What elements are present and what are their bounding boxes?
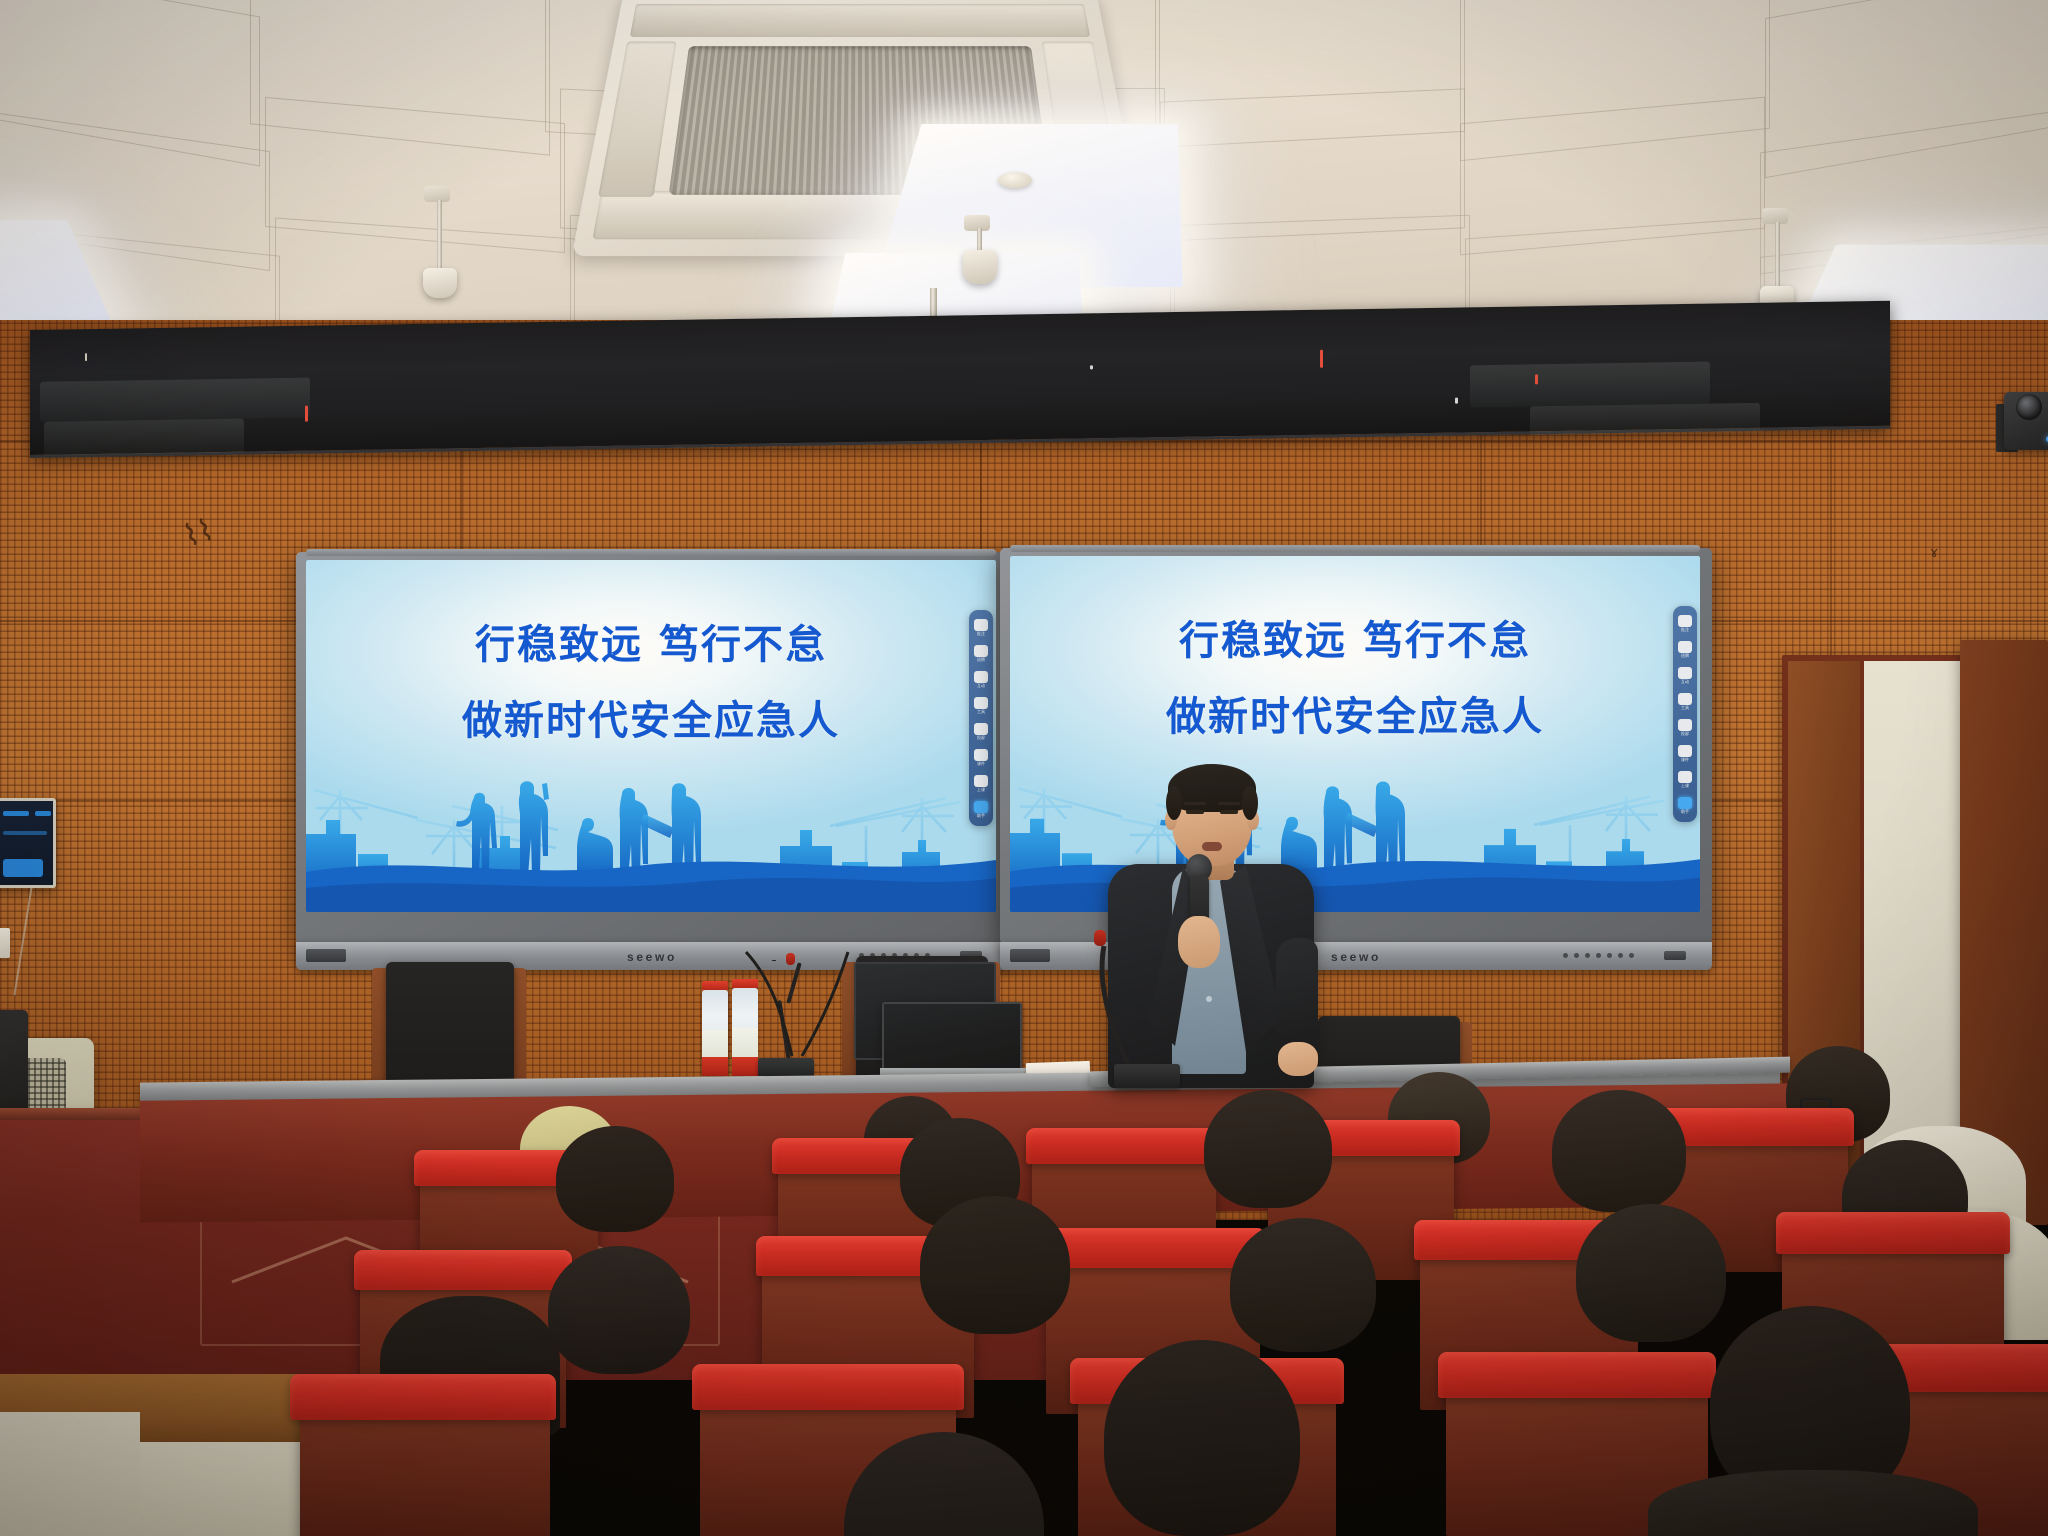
screen-icon — [1678, 719, 1692, 731]
shield-icon — [1678, 641, 1692, 653]
panel-io-ports[interactable] — [1010, 949, 1050, 962]
water-bottle — [702, 990, 728, 1076]
panel-tool-label: 课件 — [1681, 758, 1689, 762]
panel-led-indicators — [1563, 953, 1634, 958]
keyboard-icon — [974, 775, 988, 787]
slide-subtitle: 做新时代安全应急人 — [1010, 684, 1700, 742]
panel-tool-assist-icon[interactable]: 助手 — [1674, 792, 1696, 818]
panel-tool-window-icon[interactable]: 互动 — [1674, 662, 1696, 688]
panel-tool-label: 互动 — [977, 684, 985, 688]
left-slide-screen: 行稳致远 笃行不怠 做新时代安全应急人 — [306, 560, 996, 912]
panel-tool-assist-icon[interactable]: 助手 — [970, 796, 992, 822]
screen-icon — [974, 723, 988, 735]
auditorium-seat-cushion[interactable] — [290, 1374, 556, 1420]
pen-icon — [1678, 615, 1692, 627]
panel-tool-label: 投屏 — [977, 736, 985, 740]
wall-scuff-mark: ɤ — [1930, 545, 1938, 561]
wall-socket[interactable] — [0, 928, 10, 958]
panel-tool-apps-icon[interactable]: 工具 — [970, 692, 992, 718]
panel-io-ports[interactable] — [306, 949, 346, 962]
note-icon — [974, 749, 988, 761]
panel-tool-label: 批注 — [1681, 628, 1689, 632]
assist-icon — [1678, 797, 1692, 809]
audience-head — [1552, 1090, 1686, 1212]
panel-tool-label: 课件 — [977, 762, 985, 766]
ceiling — [0, 0, 2048, 340]
audience-head — [1230, 1218, 1376, 1352]
audience-head — [844, 1432, 1044, 1536]
audience-head — [1104, 1340, 1300, 1536]
slide-title: 行稳致远 笃行不怠 — [1010, 608, 1700, 666]
panel-tool-screen-icon[interactable]: 投屏 — [970, 718, 992, 744]
construction-silhouette-graphic — [306, 762, 996, 912]
panel-tool-pen-icon[interactable]: 批注 — [1674, 610, 1696, 636]
audience-head — [1576, 1204, 1726, 1342]
panel-tool-shield-icon[interactable]: 班牌 — [970, 640, 992, 666]
assist-icon — [974, 801, 988, 813]
panel-tool-shield-icon[interactable]: 班牌 — [1674, 636, 1696, 662]
auditorium-seat-cushion[interactable] — [354, 1250, 572, 1290]
presenter-hand — [1178, 916, 1220, 968]
panel-tool-pen-icon[interactable]: 批注 — [970, 614, 992, 640]
wall-mounted-status-monitor[interactable] — [0, 798, 56, 888]
apps-icon — [1678, 693, 1692, 705]
smoke-detector-icon — [998, 172, 1032, 188]
display-brand-label: seewo — [627, 950, 677, 964]
laptop[interactable] — [882, 1002, 1022, 1070]
panel-tool-label: 助手 — [977, 814, 985, 818]
panel-power-button[interactable] — [1664, 951, 1686, 960]
panel-tool-window-icon[interactable]: 互动 — [970, 666, 992, 692]
window-icon — [1678, 667, 1692, 679]
slide-title: 行稳致远 笃行不怠 — [306, 612, 996, 670]
panel-tool-label: 班牌 — [1681, 654, 1689, 658]
panel-tool-label: 批注 — [977, 632, 985, 636]
audience-head — [1204, 1090, 1332, 1208]
auditorium-seat-cushion[interactable] — [1776, 1212, 2010, 1254]
panel-tool-label: 助手 — [1681, 810, 1689, 814]
panel-tool-label: 上课 — [977, 788, 985, 792]
panel-tool-label: 上课 — [1681, 784, 1689, 788]
presenter-hand — [1278, 1042, 1318, 1076]
panel-tool-label: 互动 — [1681, 680, 1689, 684]
slide-subtitle: 做新时代安全应急人 — [306, 688, 996, 746]
shield-icon — [974, 645, 988, 657]
apps-icon — [974, 697, 988, 709]
auditorium-seat-cushion[interactable] — [1026, 1128, 1222, 1164]
note-icon — [1678, 745, 1692, 757]
panel-tool-label: 工具 — [977, 710, 985, 714]
conference-room-photo: ⌇⌇ ɤ 行稳致远 笃行不怠 做新时代安全应急人 — [0, 0, 2048, 1536]
audience-head — [556, 1126, 674, 1232]
panel-tool-label: 投屏 — [1681, 732, 1689, 736]
auditorium-seat-cushion[interactable] — [692, 1364, 964, 1410]
panel-tool-note-icon[interactable]: 课件 — [1674, 740, 1696, 766]
floor — [0, 1412, 140, 1536]
panel-tool-label: 班牌 — [977, 658, 985, 662]
panel-tool-label: 工具 — [1681, 706, 1689, 710]
panel-tool-screen-icon[interactable]: 投屏 — [1674, 714, 1696, 740]
panel-side-toolbar[interactable]: 批注班牌互动工具投屏课件上课助手 — [969, 610, 993, 826]
panel-tool-note-icon[interactable]: 课件 — [970, 744, 992, 770]
audience-head — [548, 1246, 690, 1374]
left-interactive-panel[interactable]: 行稳致远 笃行不怠 做新时代安全应急人 — [296, 552, 1008, 944]
audience-head — [920, 1196, 1070, 1334]
panel-tool-keyboard-icon[interactable]: 上课 — [970, 770, 992, 796]
auditorium-seat-cushion[interactable] — [1438, 1352, 1716, 1398]
window-icon — [974, 671, 988, 683]
panel-side-toolbar[interactable]: 批注班牌互动工具投屏课件上课助手 — [1673, 606, 1697, 822]
panel-tool-apps-icon[interactable]: 工具 — [1674, 688, 1696, 714]
keyboard-icon — [1678, 771, 1692, 783]
audience-shoulders — [1648, 1470, 1978, 1536]
camera-lens-icon — [2016, 394, 2042, 420]
pen-icon — [974, 619, 988, 631]
panel-tool-keyboard-icon[interactable]: 上课 — [1674, 766, 1696, 792]
